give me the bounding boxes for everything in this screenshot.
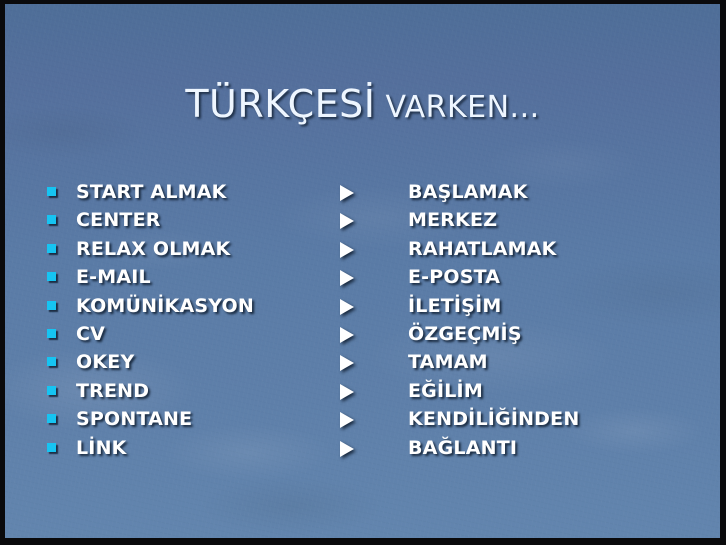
term-pair-row: TRENDEĞİLİM — [45, 377, 706, 405]
loanword-term: CENTER — [76, 206, 161, 234]
loanword-term: RELAX OLMAK — [76, 235, 230, 263]
term-pair-row: START ALMAKBAŞLAMAK — [45, 178, 706, 206]
right-arrow-icon — [340, 441, 354, 457]
term-pair-row: E-MAILE-POSTA — [45, 263, 706, 291]
loanword-term: LİNK — [76, 434, 127, 462]
square-bullet-icon — [47, 187, 56, 196]
loanword-term: SPONTANE — [76, 405, 192, 433]
square-bullet-icon — [47, 244, 56, 253]
square-bullet-icon — [47, 386, 56, 395]
slide-canvas: TÜRKÇESİ VARKEN... START ALMAKBAŞLAMAKCE… — [5, 4, 720, 538]
turkish-equivalent-term: İLETİŞİM — [408, 292, 501, 320]
square-bullet-icon — [47, 215, 56, 224]
right-arrow-icon — [340, 327, 354, 343]
turkish-equivalent-term: TAMAM — [408, 348, 488, 376]
right-arrow-icon — [340, 412, 354, 428]
loanword-term: START ALMAK — [76, 178, 227, 206]
term-pair-row: KOMÜNİKASYONİLETİŞİM — [45, 292, 706, 320]
turkish-equivalent-term: E-POSTA — [408, 263, 500, 291]
turkish-equivalent-term: ÖZGEÇMİŞ — [408, 320, 522, 348]
right-arrow-icon — [340, 270, 354, 286]
right-arrow-icon — [340, 213, 354, 229]
right-arrow-icon — [340, 384, 354, 400]
page-title: TÜRKÇESİ VARKEN... — [5, 82, 720, 126]
turkish-equivalent-term: EĞİLİM — [408, 377, 483, 405]
page-title-main: TÜRKÇESİ — [185, 82, 375, 126]
turkish-equivalent-term: BAŞLAMAK — [408, 178, 528, 206]
term-pair-row: LİNKBAĞLANTI — [45, 434, 706, 462]
loanword-term: TREND — [76, 377, 149, 405]
turkish-equivalent-term: KENDİLİĞİNDEN — [408, 405, 579, 433]
slide-frame: TÜRKÇESİ VARKEN... START ALMAKBAŞLAMAKCE… — [0, 0, 726, 545]
square-bullet-icon — [47, 357, 56, 366]
right-arrow-icon — [340, 355, 354, 371]
square-bullet-icon — [47, 414, 56, 423]
turkish-equivalent-term: MERKEZ — [408, 206, 497, 234]
square-bullet-icon — [47, 329, 56, 338]
term-pair-row: RELAX OLMAKRAHATLAMAK — [45, 235, 706, 263]
right-arrow-icon — [340, 299, 354, 315]
term-pair-row: OKEYTAMAM — [45, 348, 706, 376]
term-pairs-list: START ALMAKBAŞLAMAKCENTERMERKEZRELAX OLM… — [45, 178, 706, 462]
square-bullet-icon — [47, 301, 56, 310]
loanword-term: KOMÜNİKASYON — [76, 292, 254, 320]
square-bullet-icon — [47, 443, 56, 452]
square-bullet-icon — [47, 272, 56, 281]
loanword-term: OKEY — [76, 348, 134, 376]
term-pair-row: CVÖZGEÇMİŞ — [45, 320, 706, 348]
term-pair-row: SPONTANEKENDİLİĞİNDEN — [45, 405, 706, 433]
right-arrow-icon — [340, 242, 354, 258]
right-arrow-icon — [340, 185, 354, 201]
turkish-equivalent-term: BAĞLANTI — [408, 434, 517, 462]
loanword-term: CV — [76, 320, 105, 348]
term-pair-row: CENTERMERKEZ — [45, 206, 706, 234]
turkish-equivalent-term: RAHATLAMAK — [408, 235, 557, 263]
page-title-rest: VARKEN... — [375, 90, 539, 125]
loanword-term: E-MAIL — [76, 263, 151, 291]
